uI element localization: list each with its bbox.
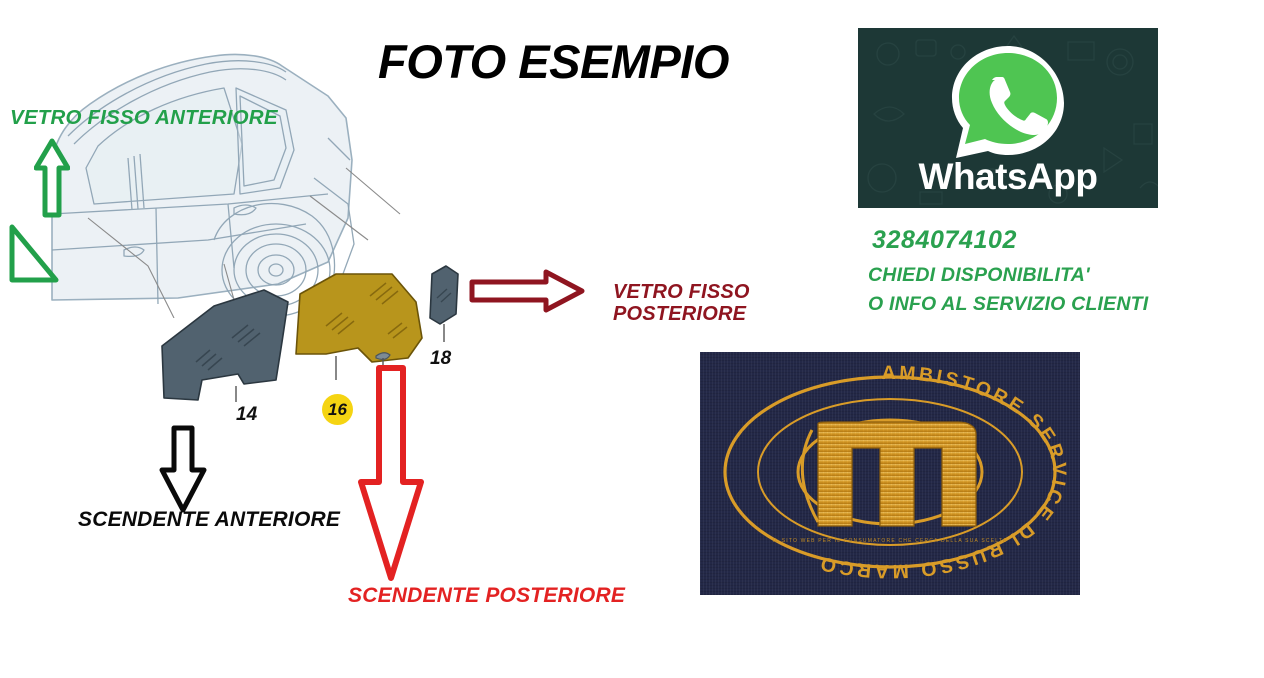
whatsapp-phone-number[interactable]: 3284074102 xyxy=(872,226,1017,254)
mricambistore-logo: MRICAMBISTORE SERVICE DI RUSSO MARCO IL … xyxy=(700,352,1080,595)
shop-logo-banner: MRICAMBISTORE SERVICE DI RUSSO MARCO IL … xyxy=(700,352,1080,595)
whatsapp-cta-line-2: O INFO AL SERVIZIO CLIENTI xyxy=(868,294,1148,316)
label-scendente-anteriore: SCENDENTE ANTERIORE xyxy=(78,508,340,532)
part-number-18: 18 xyxy=(430,348,451,370)
label-vetro-fisso-anteriore: VETRO FISSO ANTERIORE xyxy=(10,107,278,130)
part-number-14: 14 xyxy=(236,404,257,426)
green-up-arrow-icon xyxy=(34,138,70,223)
green-triangle-icon xyxy=(8,223,60,290)
part-number-16-badge: 16 xyxy=(322,394,353,425)
label-scendente-posteriore: SCENDENTE POSTERIORE xyxy=(348,584,625,608)
red-down-arrow-icon xyxy=(355,364,427,587)
whatsapp-banner: WhatsApp xyxy=(858,28,1158,208)
page-title: FOTO ESEMPIO xyxy=(378,34,729,89)
exploded-glass-parts xyxy=(140,250,480,445)
dark-red-right-arrow-icon xyxy=(468,268,586,319)
whatsapp-cta-line-1: CHIEDI DISPONIBILITA' xyxy=(868,265,1090,287)
part-number-16-label: 16 xyxy=(328,400,347,420)
example-photo-canvas: 14 16 17 18 FOTO ESEMPIO VETRO FISSO ANT… xyxy=(0,0,1264,678)
logo-monogram xyxy=(802,422,976,526)
black-down-arrow-icon xyxy=(157,424,209,519)
whatsapp-phone-bubble-icon xyxy=(944,38,1072,166)
label-vetro-fisso-posteriore: VETRO FISSO POSTERIORE xyxy=(613,281,750,326)
whatsapp-wordmark: WhatsApp xyxy=(858,156,1158,198)
logo-fineprint: IL SITO WEB PER IL CONSUMATORE CHE CERCA… xyxy=(773,538,1008,544)
